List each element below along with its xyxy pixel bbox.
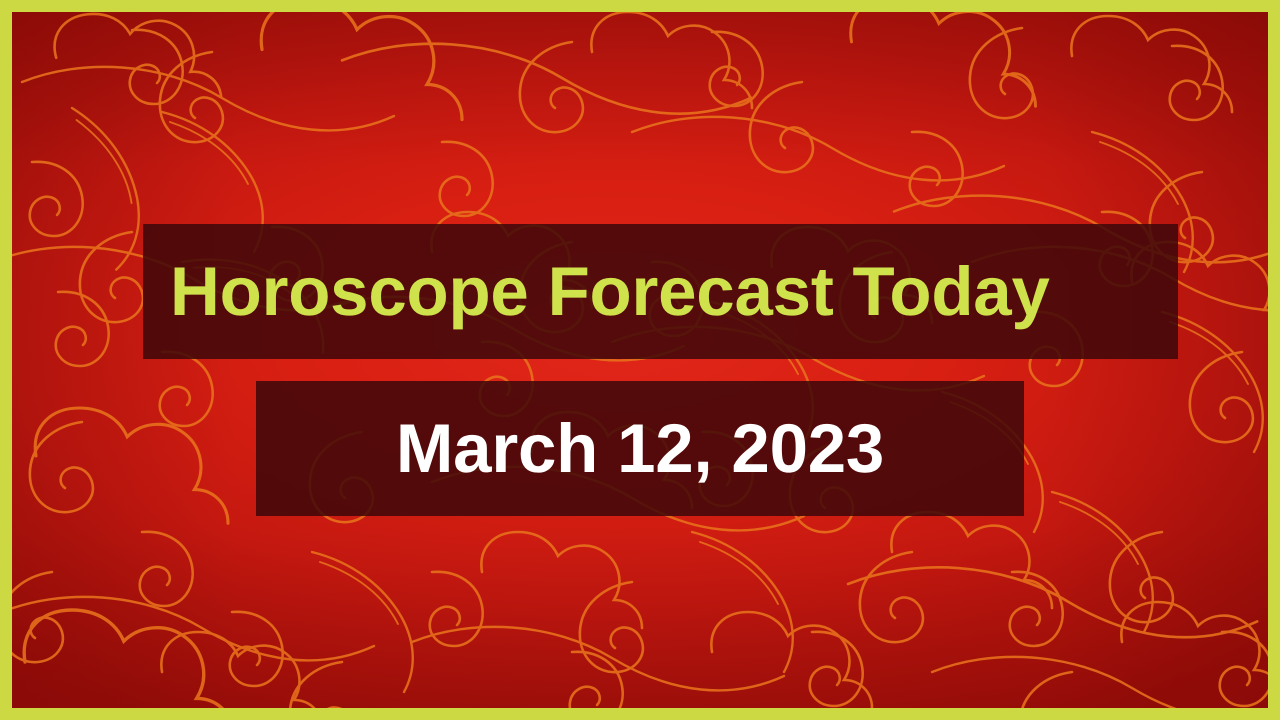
poster-canvas: Horoscope Forecast Today March 12, 2023 bbox=[0, 0, 1280, 720]
artwork-area: Horoscope Forecast Today March 12, 2023 bbox=[12, 12, 1268, 708]
title-band: Horoscope Forecast Today bbox=[143, 224, 1178, 359]
chinese-cloud-swirl-pattern-icon bbox=[12, 12, 1268, 708]
background-vignette bbox=[12, 12, 1268, 708]
page-title: Horoscope Forecast Today bbox=[170, 257, 1050, 326]
date-band: March 12, 2023 bbox=[256, 381, 1024, 516]
date-label: March 12, 2023 bbox=[396, 414, 884, 483]
